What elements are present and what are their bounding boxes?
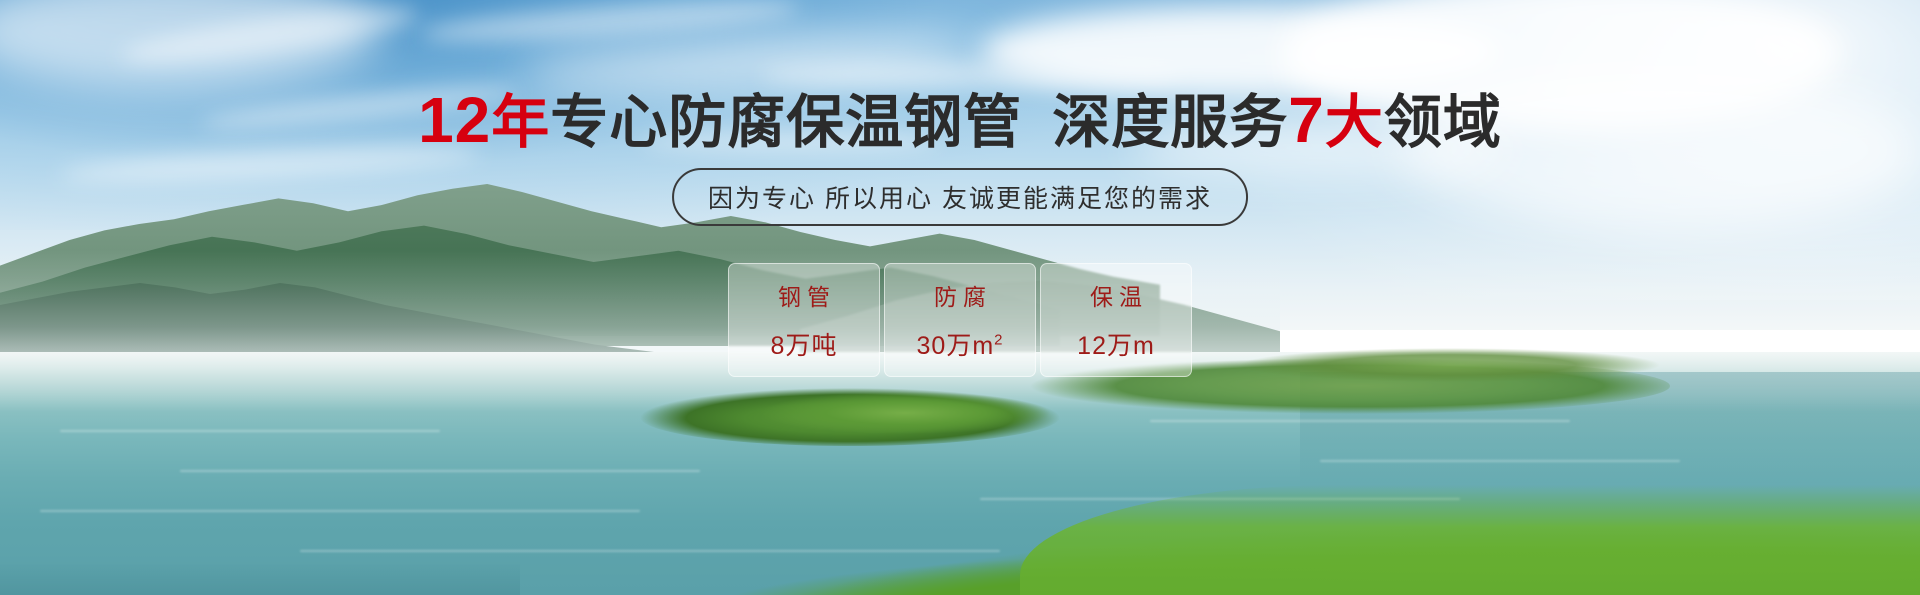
headline-fields-number: 7 (1288, 84, 1325, 156)
stat-card-anticorrosion[interactable]: 防腐 30万m2 (884, 263, 1036, 377)
headline: 12年专心防腐保温钢管深度服务7大领域 (0, 88, 1920, 152)
headline-service-text: 深度服务 (1052, 90, 1288, 155)
stat-card-value: 12万m (1077, 326, 1155, 362)
subtitle-pill: 因为专心 所以用心 友诚更能满足您的需求 (672, 168, 1248, 226)
stat-value-superscript: 2 (994, 332, 1003, 349)
stat-card-title: 钢管 (772, 278, 836, 312)
stat-card-value: 8万吨 (771, 326, 838, 362)
stat-value-number: 12 (1077, 332, 1107, 360)
stat-card-title: 保温 (1084, 278, 1148, 312)
stat-value-unit: 万吨 (785, 332, 837, 360)
water-ripple (1320, 460, 1680, 462)
stat-value-number: 30 (917, 332, 947, 360)
grass-island-top (760, 392, 1050, 434)
stat-card-title: 防腐 (928, 278, 992, 312)
hero-banner: 12年专心防腐保温钢管深度服务7大领域 因为专心 所以用心 友诚更能满足您的需求… (0, 0, 1920, 595)
stat-card-steel-pipe[interactable]: 钢管 8万吨 (728, 263, 880, 377)
water-ripple (180, 470, 700, 472)
water-ripple (60, 430, 440, 432)
water-ripple (1150, 420, 1570, 422)
headline-years-number: 12 (418, 84, 491, 156)
stat-card-value: 30万m2 (917, 326, 1004, 362)
stat-value-unit: 万m (1107, 332, 1155, 360)
grass-bank-right (1020, 485, 1920, 595)
stat-card-insulation[interactable]: 保温 12万m (1040, 263, 1192, 377)
headline-fields-unit: 大 (1325, 90, 1384, 155)
stat-value-number: 8 (771, 332, 786, 360)
stat-value-unit: 万m (946, 332, 994, 360)
marsh-far-2 (1240, 348, 1660, 382)
headline-main-text: 专心防腐保温钢管 (550, 90, 1022, 155)
headline-years-unit: 年 (491, 90, 550, 155)
stat-card-group: 钢管 8万吨 防腐 30万m2 保温 12万m (728, 263, 1192, 377)
headline-fields-text: 领域 (1384, 90, 1502, 155)
